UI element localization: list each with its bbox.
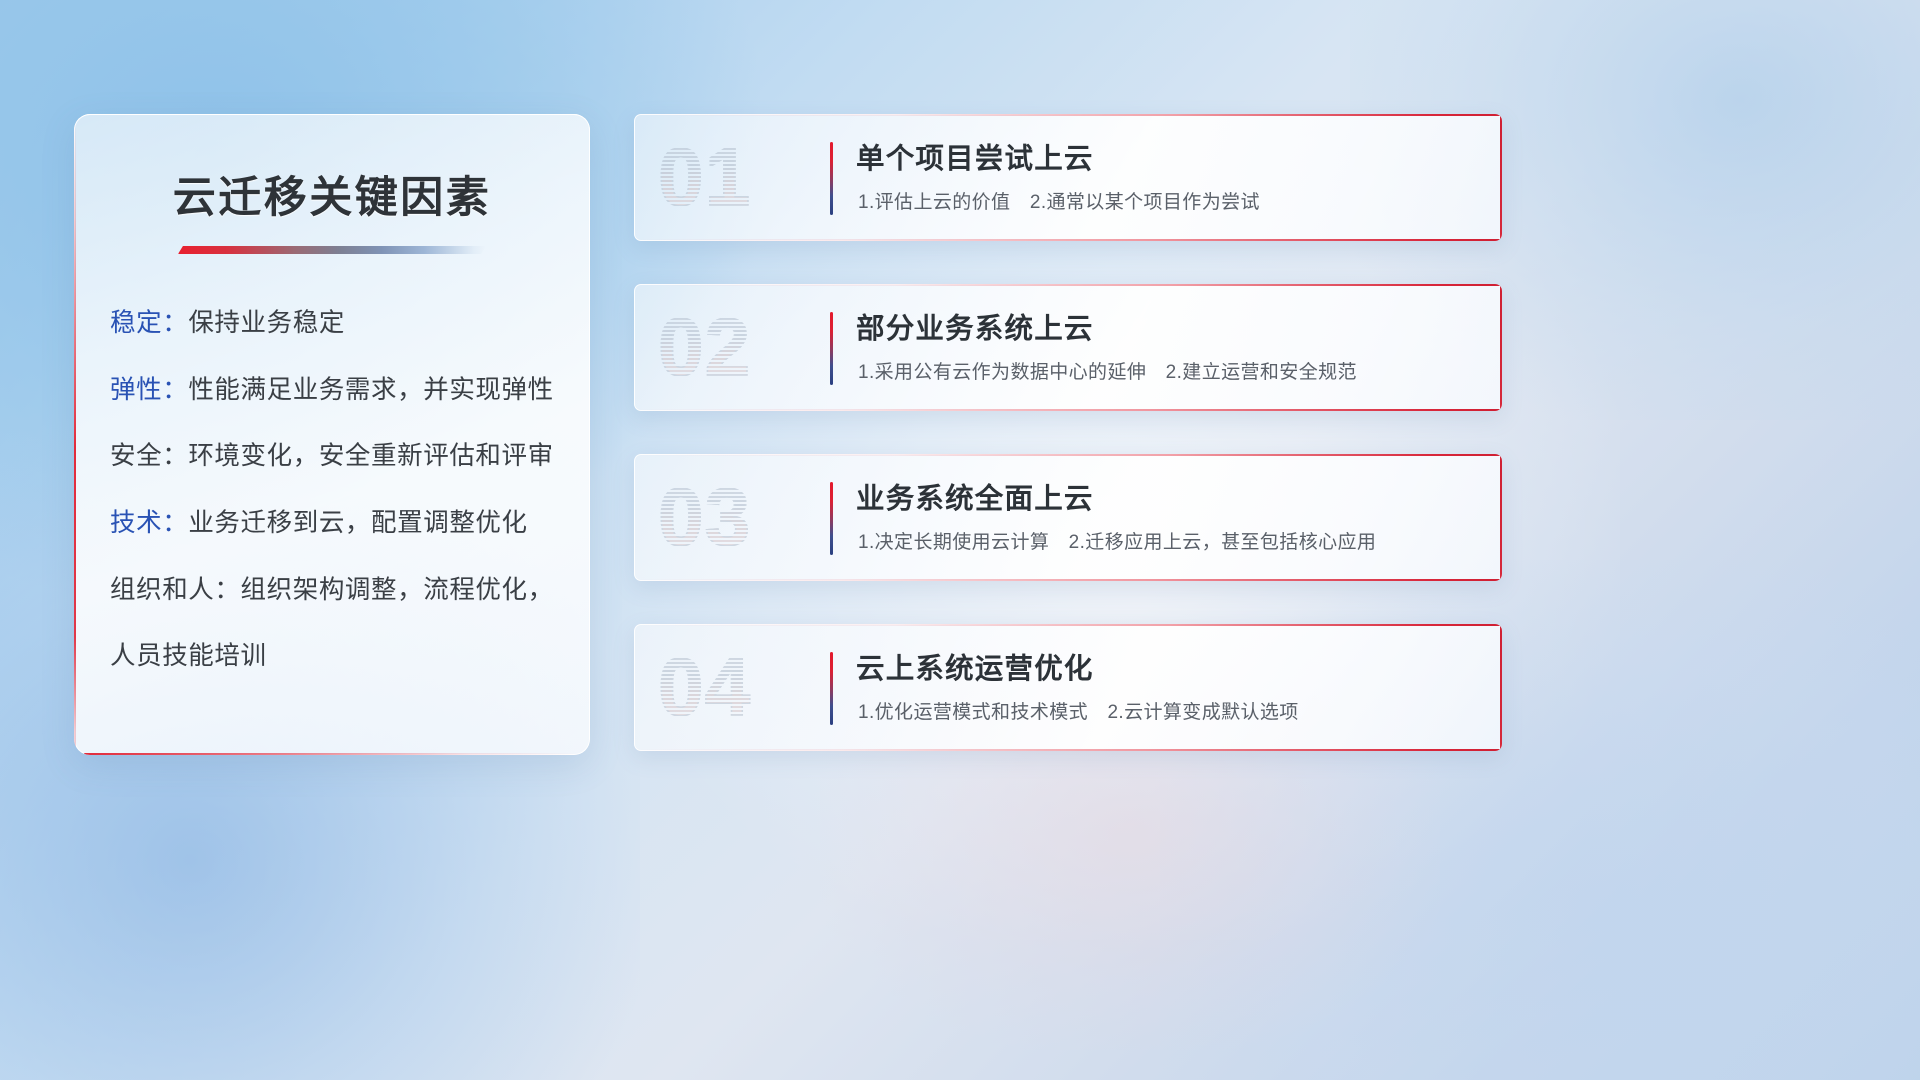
title-underline-accent (178, 246, 486, 254)
card-right-accent (1500, 454, 1502, 581)
card-step-number: 04 (658, 638, 808, 738)
card-bottom-accent (634, 409, 1502, 411)
card-step-number: 03 (658, 468, 808, 568)
list-item-text: 组织架构调整，流程优化， (241, 576, 554, 604)
card-divider-accent (830, 652, 833, 725)
list-item-key: 安全： (110, 442, 188, 470)
card-subtitle: 1.优化运营模式和技术模式 2.云计算变成默认选项 (858, 697, 1299, 724)
card-subtitle: 1.采用公有云作为数据中心的延伸 2.建立运营和安全规范 (858, 357, 1357, 384)
list-item-key: 弹性： (110, 376, 188, 404)
card-step-number: 01 (658, 128, 808, 228)
page-title: 云迁移关键因素 (74, 163, 590, 225)
card-title: 业务系统全面上云 (856, 476, 1094, 517)
list-item: 组织和人：组织架构调整，流程优化， (110, 574, 556, 608)
panel-bottom-accent (84, 753, 580, 755)
card-bottom-accent (634, 579, 1502, 581)
card-title: 云上系统运营优化 (856, 646, 1094, 687)
stage-card-03[interactable]: 03 业务系统全面上云 1.决定长期使用云计算 2.迁移应用上云，甚至包括核心应… (634, 454, 1502, 581)
list-item: 稳定：保持业务稳定 (110, 307, 556, 341)
card-step-number-text: 03 (658, 468, 751, 568)
stage-card-04[interactable]: 04 云上系统运营优化 1.优化运营模式和技术模式 2.云计算变成默认选项 (634, 624, 1502, 751)
card-title: 部分业务系统上云 (856, 306, 1094, 347)
list-item-key: 稳定： (110, 309, 188, 337)
list-item-text: 环境变化，安全重新评估和评审 (188, 442, 553, 470)
key-factors-panel: 云迁移关键因素 稳定：保持业务稳定 弹性：性能满足业务需求，并实现弹性 安全：环… (74, 114, 590, 755)
list-item-continuation: 人员技能培训 (110, 640, 556, 674)
card-top-accent (634, 624, 1502, 626)
card-right-accent (1500, 114, 1502, 241)
list-item-text: 性能满足业务需求，并实现弹性 (188, 376, 553, 404)
card-subtitle: 1.决定长期使用云计算 2.迁移应用上云，甚至包括核心应用 (858, 527, 1376, 554)
card-step-number: 02 (658, 298, 808, 398)
card-step-number-text: 04 (658, 638, 751, 738)
card-top-accent (634, 114, 1502, 116)
stage-card-02[interactable]: 02 部分业务系统上云 1.采用公有云作为数据中心的延伸 2.建立运营和安全规范 (634, 284, 1502, 411)
stage-card-01[interactable]: 01 单个项目尝试上云 1.评估上云的价值 2.通常以某个项目作为尝试 (634, 114, 1502, 241)
card-top-accent (634, 284, 1502, 286)
card-bottom-accent (634, 749, 1502, 751)
card-step-number-text: 02 (658, 298, 751, 398)
card-top-accent (634, 454, 1502, 456)
list-item-text: 人员技能培训 (110, 642, 267, 670)
card-divider-accent (830, 482, 833, 555)
list-item-text: 业务迁移到云，配置调整优化 (188, 509, 527, 537)
card-subtitle: 1.评估上云的价值 2.通常以某个项目作为尝试 (858, 187, 1260, 214)
migration-stage-cards: 01 单个项目尝试上云 1.评估上云的价值 2.通常以某个项目作为尝试 02 部… (634, 114, 1502, 751)
card-right-accent (1500, 624, 1502, 751)
card-right-accent (1500, 284, 1502, 411)
list-item-text: 保持业务稳定 (188, 309, 345, 337)
list-item: 技术：业务迁移到云，配置调整优化 (110, 507, 556, 541)
card-step-number-text: 01 (658, 128, 751, 228)
list-item-key: 组织和人： (110, 576, 241, 604)
card-title: 单个项目尝试上云 (856, 136, 1094, 177)
list-item: 安全：环境变化，安全重新评估和评审 (110, 440, 556, 474)
list-item-key: 技术： (110, 509, 188, 537)
card-divider-accent (830, 312, 833, 385)
card-bottom-accent (634, 239, 1502, 241)
card-divider-accent (830, 142, 833, 215)
list-item: 弹性：性能满足业务需求，并实现弹性 (110, 374, 556, 408)
key-factors-list: 稳定：保持业务稳定 弹性：性能满足业务需求，并实现弹性 安全：环境变化，安全重新… (74, 307, 590, 674)
